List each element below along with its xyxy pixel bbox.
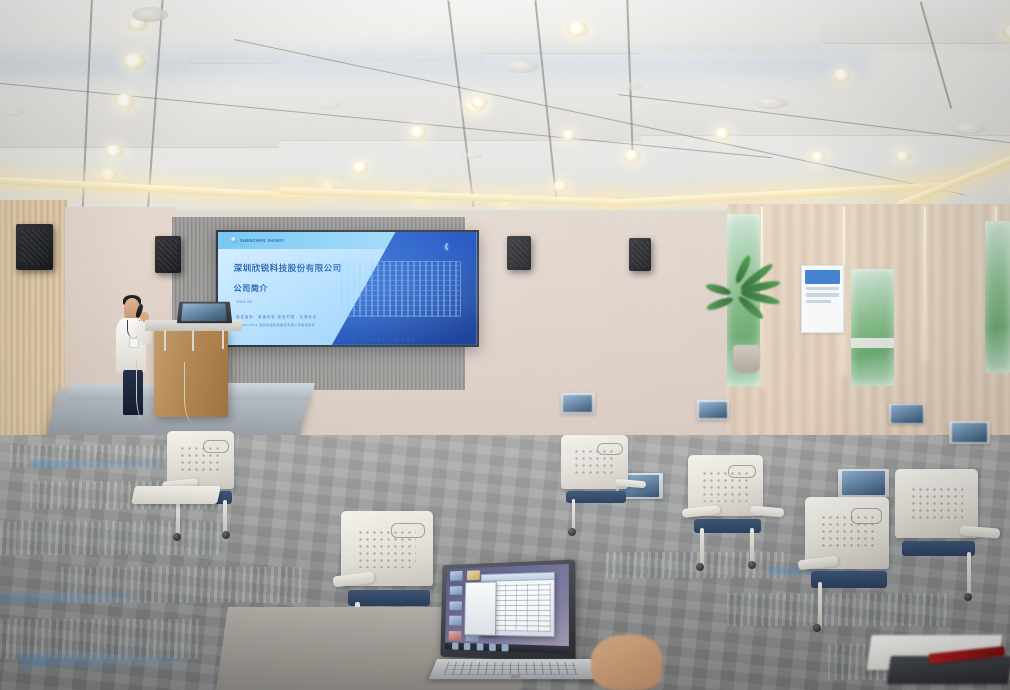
training-chair[interactable] [682,455,783,572]
ceiling-vent-icon [318,101,341,108]
conference-room-photo: SHENZHEN SHINRY 《 深圳欣锐科技股份有限公司 公司简介 2024… [0,0,1010,690]
cove-light [896,126,1010,209]
training-chair[interactable] [556,435,647,539]
taskbar-icon[interactable] [489,644,496,651]
ceiling-vent-icon [460,152,483,159]
wall-speaker-icon [629,238,651,271]
window-frame [851,338,893,348]
wall-speaker-icon [16,224,52,270]
taskbar[interactable] [446,642,570,654]
ceiling-vent-icon [2,109,25,116]
podium-leg [164,330,166,351]
downlight-icon [833,69,851,82]
foreground-laptop[interactable] [436,562,603,690]
slide-copyright-line: ©2003-2024 深圳欣锐科技股份有限公司版权所有 [236,323,315,327]
notice-poster [801,265,844,333]
slide-footer-nav: 生产产品 | 企业荣誉 | 研发体系 [337,337,416,342]
slide-date: 2024.08 [236,300,252,304]
window [985,221,1010,373]
company-logo-icon [231,237,237,243]
desktop-icon[interactable] [450,601,462,610]
downlight-icon [624,150,641,162]
poster-header-band [805,270,840,285]
poster-text-line [806,287,839,290]
dialog-window[interactable] [464,582,497,636]
downlight-icon [553,181,569,192]
presentation-slide: SHENZHEN SHINRY 《 深圳欣锐科技股份有限公司 公司简介 2024… [218,232,477,345]
downlight-icon [471,97,488,109]
chair-tablet-arm[interactable] [131,486,221,504]
podium-leg [192,330,194,351]
wall-speaker-icon [155,236,181,273]
taskbar-icon[interactable] [452,643,458,650]
podium-laptop[interactable] [177,302,232,323]
poster-text-line [806,293,839,296]
audience-laptop[interactable] [561,393,595,414]
slide-subtitle: 公司简介 [234,283,268,294]
podium-leg [222,330,224,349]
projection-screen[interactable]: SHENZHEN SHINRY 《 深圳欣锐科技股份有限公司 公司简介 2024… [216,230,479,347]
ceiling-speaker-icon [754,97,788,109]
carpet-blue-accent [20,654,182,667]
slide-title: 深圳欣锐科技股份有限公司 [234,262,342,274]
cove-light [0,175,301,200]
hand-on-laptop [591,635,662,690]
taskbar-icon[interactable] [477,644,484,651]
floor-cable [136,359,157,421]
slide-corner-mark: 《 [441,242,448,252]
floor-cable [184,362,210,424]
downlight-icon [100,169,118,182]
downlight-icon [105,145,124,159]
laptop-keyboard[interactable] [444,662,578,674]
desktop-icon[interactable] [449,631,461,640]
slide-confidentiality-line: 保密级别：普通商密 保密时限：长期有效 [236,314,317,319]
downlight-icon [714,128,731,140]
laptop-keyboard-base[interactable] [429,659,604,679]
laptop-brand-logo [511,675,520,678]
downlight-icon [895,151,911,162]
taskbar-icon[interactable] [502,644,509,651]
downlight-icon [115,94,135,108]
desktop-icon[interactable] [451,572,463,581]
desktop-icon[interactable] [450,586,462,595]
audience-laptop[interactable] [889,404,925,425]
downlight-icon [352,162,369,174]
downlight-icon [562,130,577,141]
wall-light-groove [924,207,926,359]
wall-speaker-icon [507,236,531,271]
audience-laptop[interactable] [838,469,889,497]
downlight-icon [567,22,588,38]
laptop-screen[interactable] [446,564,570,654]
audience-laptop[interactable] [697,400,729,419]
training-chair[interactable] [889,469,1000,607]
desktop-icon[interactable] [467,571,480,580]
window [851,269,893,386]
downlight-icon [810,152,826,163]
slide-logo-text: SHENZHEN SHINRY [240,238,284,244]
desktop-icon[interactable] [450,616,462,625]
plant-pot [733,345,759,373]
poster-text-line [806,300,831,303]
ceiling-speaker-icon [132,7,168,21]
laptop-lid [441,560,576,663]
carpet-blue-accent [0,593,141,603]
audience-laptop[interactable] [949,421,989,444]
taskbar-icon[interactable] [464,643,471,650]
downlight-icon [409,126,427,139]
slide-product-diagram [340,261,461,317]
